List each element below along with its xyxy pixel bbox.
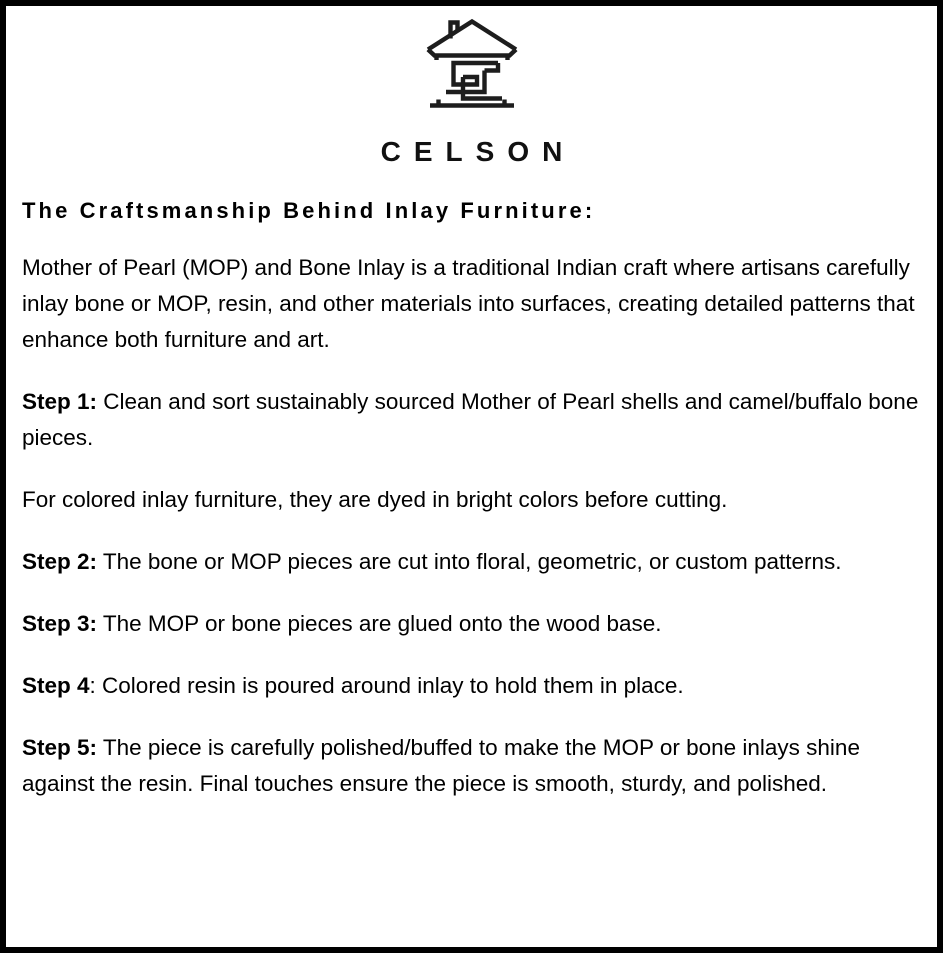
step-label: Step 5:: [22, 735, 97, 760]
step-label: Step 2:: [22, 549, 97, 574]
paragraph-text: Mother of Pearl (MOP) and Bone Inlay is …: [22, 255, 915, 352]
poster-page: CELSON The Craftsmanship Behind Inlay Fu…: [0, 0, 943, 953]
paragraph-text: The piece is carefully polished/buffed t…: [22, 735, 860, 796]
paragraph-colored-note: For colored inlay furniture, they are dy…: [22, 482, 919, 518]
logo-block: CELSON: [16, 12, 927, 166]
page-title: The Craftsmanship Behind Inlay Furniture…: [22, 198, 927, 224]
paragraph-intro: Mother of Pearl (MOP) and Bone Inlay is …: [22, 250, 919, 358]
paragraph-text: Clean and sort sustainably sourced Mothe…: [22, 389, 918, 450]
step-label: Step 4: [22, 673, 90, 698]
paragraph-text: Colored resin is poured around inlay to …: [96, 673, 684, 698]
paragraph-step-2: Step 2: The bone or MOP pieces are cut i…: [22, 544, 919, 580]
poster-content: CELSON The Craftsmanship Behind Inlay Fu…: [6, 6, 937, 947]
paragraph-text: The bone or MOP pieces are cut into flor…: [97, 549, 842, 574]
house-with-s-monogram-icon: [424, 16, 520, 120]
body-copy: Mother of Pearl (MOP) and Bone Inlay is …: [22, 250, 919, 802]
step-label: Step 3:: [22, 611, 97, 636]
step-label: Step 1:: [22, 389, 97, 414]
paragraph-step-3: Step 3: The MOP or bone pieces are glued…: [22, 606, 919, 642]
paragraph-step-4: Step 4: Colored resin is poured around i…: [22, 668, 919, 704]
paragraph-text: For colored inlay furniture, they are dy…: [22, 487, 727, 512]
brand-wordmark: CELSON: [29, 138, 927, 166]
paragraph-step-1: Step 1: Clean and sort sustainably sourc…: [22, 384, 919, 456]
paragraph-text: The MOP or bone pieces are glued onto th…: [97, 611, 662, 636]
paragraph-step-5: Step 5: The piece is carefully polished/…: [22, 730, 919, 802]
